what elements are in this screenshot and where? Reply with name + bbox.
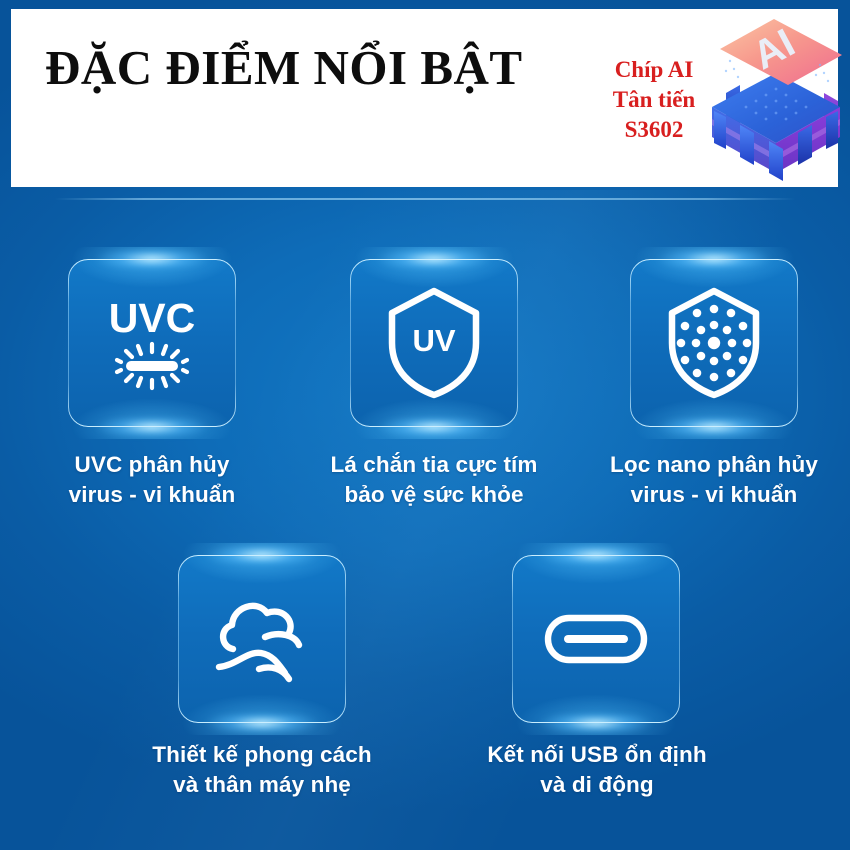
ai-chip-icon: AI [696,15,850,183]
feature-caption-nano-filter: Lọc nano phân hủy virus - vi khuẩn [582,450,846,510]
uvc-icon-label: UVC [109,295,196,341]
nano-filter-shield-icon [630,259,798,427]
feature-caption-design: Thiết kế phong cách và thân máy nhẹ [130,740,394,800]
ai-chip-block: Chíp AI Tân tiến S3602 [551,9,850,187]
feature-caption-usb: Kết nối USB ổn định và di động [466,740,728,800]
feature-card-uvc[interactable]: UVC [68,259,236,427]
header-banner: ĐẶC ĐIỂM NỔI BẬT Chíp AI Tân tiến S3602 [11,9,838,187]
feature-card-design[interactable] [178,555,346,723]
feature-card-nano-filter[interactable] [630,259,798,427]
feature-caption-uvc: UVC phân hủy virus - vi khuẩn [22,450,282,510]
feature-caption-uv-shield: Lá chắn tia cực tím bảo vệ sức khỏe [300,450,568,510]
page-title: ĐẶC ĐIỂM NỔI BẬT [45,39,523,96]
cloud-breeze-icon [178,555,346,723]
uvc-lamp-icon: UVC [68,259,236,427]
feature-card-uv-shield[interactable]: UV [350,259,518,427]
uv-shield-icon: UV [350,259,518,427]
usb-c-port-icon [512,555,680,723]
feature-card-usb[interactable] [512,555,680,723]
background-hairline [55,198,795,200]
infographic-page: ĐẶC ĐIỂM NỔI BẬT Chíp AI Tân tiến S3602 [0,0,850,850]
uv-shield-label: UV [412,323,455,358]
